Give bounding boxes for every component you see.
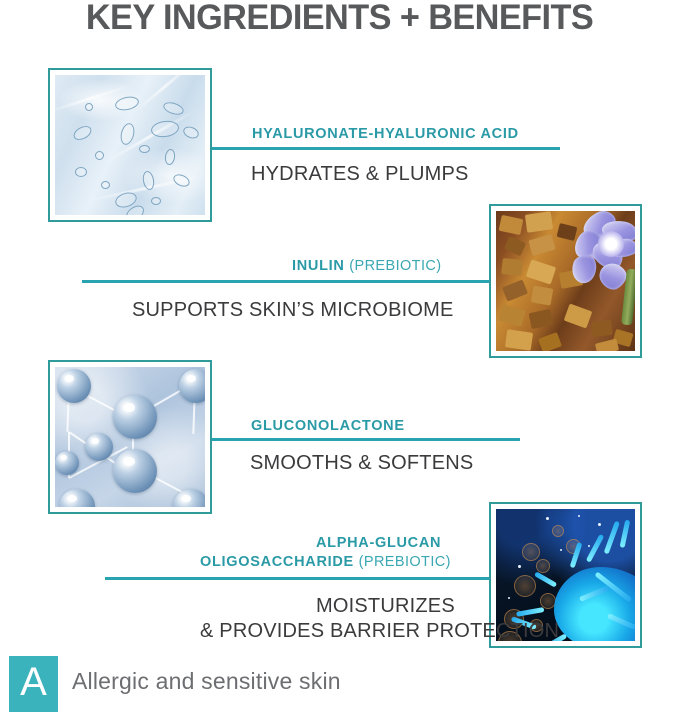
ingredient-image-gluconolactone bbox=[48, 360, 212, 514]
benefit-text: SUPPORTS SKIN’S MICROBIOME bbox=[132, 299, 454, 321]
allergy-badge: A bbox=[9, 656, 58, 712]
connector-line-alpha-glucan bbox=[105, 577, 489, 580]
ingredient-name-alpha-glucan-line2: OLIGOSACCHARIDE (PREBIOTIC) bbox=[200, 554, 451, 570]
ingredient-benefit-alpha-glucan-line2: & PROVIDES BARRIER PROTECTION bbox=[200, 620, 559, 643]
allergy-label: Allergic and sensitive skin bbox=[72, 668, 341, 695]
infographic-page: KEY INGREDIENTS + BENEFITS bbox=[0, 0, 679, 714]
molecule-image bbox=[55, 367, 205, 507]
chicory-root-image bbox=[496, 211, 635, 351]
benefit-text: SMOOTHS & SOFTENS bbox=[250, 452, 473, 474]
benefit-text: HYDRATES & PLUMPS bbox=[251, 163, 469, 185]
allergy-badge-letter: A bbox=[20, 660, 47, 704]
ingredient-name-text: INULIN bbox=[292, 258, 345, 274]
gel-texture-image bbox=[55, 75, 205, 215]
connector-line-gluconolactone bbox=[212, 438, 520, 441]
ingredient-benefit-alpha-glucan-line1: MOISTURIZES bbox=[316, 595, 455, 618]
ingredient-qualifier-text: (PREBIOTIC) bbox=[359, 554, 451, 570]
ingredient-benefit-hyaluronate: HYDRATES & PLUMPS bbox=[251, 163, 469, 186]
ingredient-name-gluconolactone: GLUCONOLACTONE bbox=[251, 418, 405, 434]
ingredient-name-text: ALPHA-GLUCAN bbox=[316, 535, 441, 551]
ingredient-image-hyaluronate bbox=[48, 68, 212, 222]
ingredient-name-alpha-glucan: ALPHA-GLUCAN bbox=[316, 535, 441, 551]
connector-line-inulin bbox=[82, 280, 489, 283]
ingredient-qualifier-text: (PREBIOTIC) bbox=[349, 258, 441, 274]
connector-line-hyaluronate bbox=[212, 147, 560, 150]
page-title: KEY INGREDIENTS + BENEFITS bbox=[7, 0, 672, 38]
ingredient-name-hyaluronate: HYALURONATE-HYALURONIC ACID bbox=[252, 126, 519, 142]
ingredient-name-inulin: INULIN (PREBIOTIC) bbox=[292, 258, 441, 274]
ingredient-name-text: HYALURONATE-HYALURONIC ACID bbox=[252, 126, 519, 142]
benefit-text-line2: & PROVIDES BARRIER PROTECTION bbox=[200, 620, 559, 642]
benefit-text: MOISTURIZES bbox=[316, 595, 455, 617]
ingredient-name-text: GLUCONOLACTONE bbox=[251, 418, 405, 434]
ingredient-benefit-gluconolactone: SMOOTHS & SOFTENS bbox=[250, 452, 473, 475]
ingredient-image-inulin bbox=[489, 204, 642, 358]
ingredient-name-text-line2: OLIGOSACCHARIDE bbox=[200, 554, 354, 570]
ingredient-benefit-inulin: SUPPORTS SKIN’S MICROBIOME bbox=[132, 299, 454, 322]
